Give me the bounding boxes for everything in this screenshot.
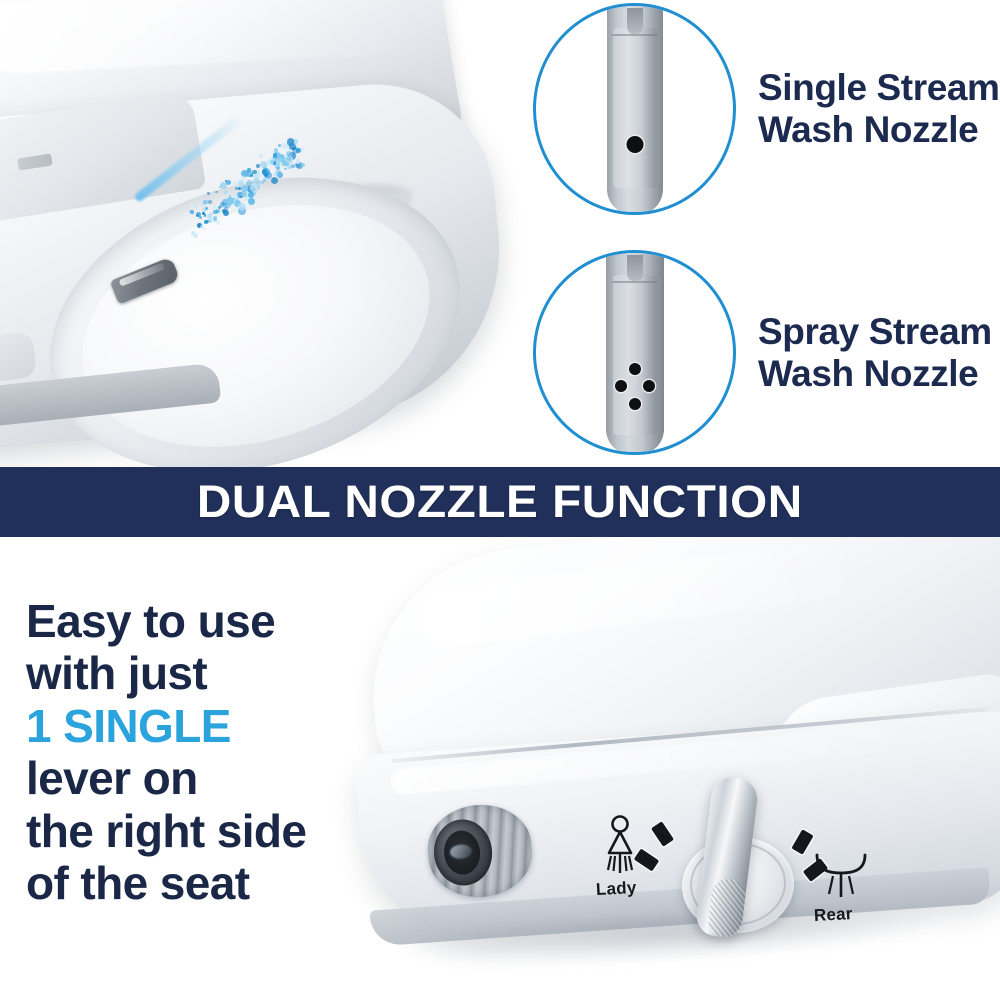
copy-line: of the seat [26,857,366,909]
rear-wash-icon [812,849,870,901]
nozzle-hole [629,398,641,410]
water-droplet [287,138,295,146]
water-droplet [194,205,197,208]
bidet-seat-side-view-image: Lady Rear [350,537,1000,1000]
copy-line: with just [26,647,366,699]
water-droplet [215,191,218,194]
callout-label-single-stream: Single Stream Wash Nozzle [758,67,1000,151]
nozzle-notch [627,8,643,34]
banner-title: DUAL NOZZLE FUNCTION [197,476,803,528]
water-droplet [241,191,247,197]
callout-single-stream: Single Stream Wash Nozzle [533,3,1000,215]
water-droplet [213,210,218,215]
water-droplet [256,164,260,168]
water-droplet [238,187,241,190]
water-droplet [239,203,246,210]
water-droplet [224,191,227,194]
water-droplet [247,168,251,172]
water-droplet [200,225,203,228]
water-droplet [213,205,218,210]
bottom-section: Easy to use with just 1 SINGLE lever on … [0,537,1000,1000]
nozzle-hole [629,363,641,375]
dual-nozzle-banner: DUAL NOZZLE FUNCTION [0,467,1000,537]
copy-line: lever on [26,752,366,804]
multi-hole-nozzle-icon [533,250,736,455]
water-droplet [273,173,277,177]
water-droplet-cloud [175,130,310,235]
water-droplet [218,206,221,209]
water-droplet [241,176,245,180]
callout-label-spray-stream: Spray Stream Wash Nozzle [758,311,992,395]
control-panel: Lady Rear [600,787,900,977]
control-label-lady: Lady [596,878,637,900]
water-droplet [271,177,279,185]
copy-line: Easy to use [26,595,366,647]
water-droplet [250,183,258,191]
tick-mark [791,829,813,855]
water-droplet [248,198,255,205]
water-droplet [260,175,262,177]
control-label-rear: Rear [814,904,854,926]
water-droplet [301,163,305,167]
callout-label-line1: Spray Stream [758,311,992,352]
water-droplet [193,233,198,238]
nozzle-notch [627,255,643,281]
nozzle-hole-group [612,363,658,415]
water-droplet [291,164,295,168]
water-droplet [207,214,212,219]
water-droplet [216,220,221,225]
water-droplet [260,181,264,185]
water-droplet [284,168,287,171]
water-droplet [252,170,256,174]
copy-line-highlight: 1 SINGLE [26,700,366,752]
nozzle-facet [613,28,657,188]
water-droplet [208,200,212,204]
water-droplet [233,194,238,199]
water-droplet [199,216,202,219]
single-hole-nozzle-icon [533,3,736,215]
threaded-water-inlet [424,801,536,902]
water-droplet [292,147,299,154]
callout-label-line1: Single Stream [758,67,1000,108]
water-droplet [224,204,226,206]
nozzle-hole [626,136,643,153]
marketing-copy-block: Easy to use with just 1 SINGLE lever on … [26,595,366,910]
callout-label-line2: Wash Nozzle [758,109,978,150]
callout-spray-stream: Spray Stream Wash Nozzle [533,250,992,455]
water-droplet [233,181,238,186]
water-droplet [278,144,281,147]
water-droplet [203,228,205,230]
infographic-page: Single Stream Wash Nozzle Spray [0,0,1000,1000]
top-section: Single Stream Wash Nozzle Spray [0,0,1000,467]
water-droplet [296,159,301,164]
water-droplet [226,180,231,185]
lady-wash-icon [596,815,644,877]
nozzle-seam [612,34,658,36]
bidet-toilet-seat-open-lid-image [0,0,520,467]
water-droplet [264,174,268,178]
copy-line: the right side [26,805,366,857]
nozzle-hole [643,380,655,392]
water-droplet [223,210,229,216]
water-droplet [207,192,209,194]
nozzle-hole [615,380,627,392]
callout-label-line2: Wash Nozzle [758,353,978,394]
water-droplet [250,174,253,177]
nozzle-seam [612,281,658,283]
water-droplet [259,154,263,158]
tick-mark [651,821,674,847]
